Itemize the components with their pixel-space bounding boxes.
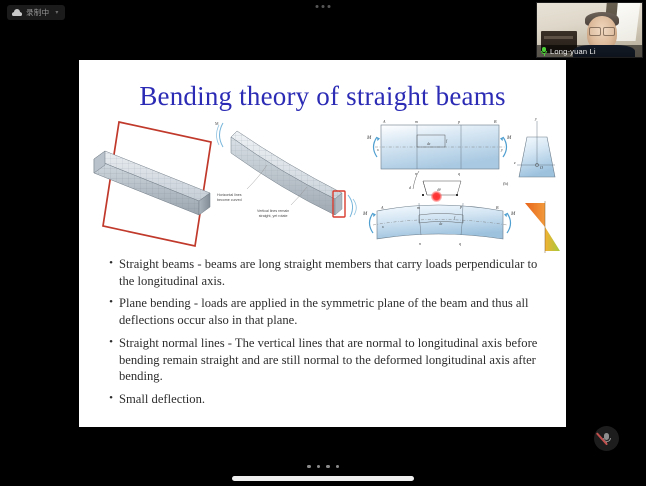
recording-status-label: 录制中 bbox=[26, 7, 49, 18]
dot bbox=[316, 5, 319, 8]
svg-text:m: m bbox=[417, 205, 420, 210]
bending-element-diagrams: A m p B n q x y dx f M M bbox=[357, 115, 566, 255]
page-dot[interactable] bbox=[307, 465, 311, 469]
svg-text:B: B bbox=[496, 205, 499, 210]
microphone-muted-icon bbox=[602, 432, 611, 445]
svg-text:dx: dx bbox=[439, 222, 443, 226]
slide-figures: M Horizontal linesbecome curved Vertical… bbox=[79, 115, 566, 255]
participant-name-label: Long-yuan Li bbox=[550, 47, 596, 56]
svg-text:M: M bbox=[506, 136, 512, 141]
deformed-curved-beam-figure: M Horizontal linesbecome curved Vertical… bbox=[211, 115, 359, 255]
presentation-slide[interactable]: Bending theory of straight beams bbox=[79, 60, 566, 427]
page-dot[interactable] bbox=[317, 465, 321, 469]
dot bbox=[328, 5, 331, 8]
page-dot[interactable] bbox=[336, 465, 340, 469]
bullet-text: Straight normal lines - The vertical lin… bbox=[119, 335, 548, 385]
svg-text:d: d bbox=[409, 185, 412, 190]
curved-beam-solid: M bbox=[211, 115, 359, 255]
svg-text:m: m bbox=[415, 119, 418, 124]
list-item: • Straight beams - beams are long straig… bbox=[103, 256, 548, 289]
annotation-horizontal-lines: Horizontal linesbecome curved bbox=[217, 193, 242, 203]
chevron-down-icon[interactable]: ▾ bbox=[55, 9, 58, 16]
dot bbox=[322, 5, 325, 8]
bullet-marker: • bbox=[103, 256, 119, 289]
bullet-text: Plane bending - loads are applied in the… bbox=[119, 295, 548, 328]
svg-text:B: B bbox=[494, 119, 497, 124]
svg-text:p: p bbox=[459, 204, 462, 209]
svg-text:M: M bbox=[362, 212, 368, 217]
svg-text:M: M bbox=[366, 136, 372, 141]
slide-title: Bending theory of straight beams bbox=[79, 81, 566, 112]
list-item: • Plane bending - loads are applied in t… bbox=[103, 295, 548, 328]
bullet-marker: • bbox=[103, 335, 119, 385]
beam-solid-mesh bbox=[92, 143, 214, 221]
home-indicator-bar[interactable] bbox=[232, 476, 414, 481]
list-item: • Small deflection. bbox=[103, 391, 548, 408]
bullet-marker: • bbox=[103, 295, 119, 328]
mute-microphone-button[interactable] bbox=[594, 426, 619, 451]
svg-text:A: A bbox=[382, 119, 386, 124]
slide-bullet-list: • Straight beams - beams are long straig… bbox=[103, 256, 548, 414]
cloud-icon bbox=[12, 9, 22, 16]
svg-text:M: M bbox=[215, 121, 219, 126]
participant-name-bar: Long-yuan Li bbox=[537, 45, 642, 57]
svg-text:z: z bbox=[513, 160, 516, 165]
svg-text:x: x bbox=[381, 224, 384, 229]
participant-video-tile[interactable]: Long-yuan Li bbox=[536, 2, 643, 58]
bullet-text: Straight beams - beams are long straight… bbox=[119, 256, 548, 289]
page-indicator-dots[interactable] bbox=[307, 465, 339, 469]
svg-text:q: q bbox=[458, 171, 460, 176]
bullet-text: Small deflection. bbox=[119, 391, 548, 408]
svg-text:y: y bbox=[500, 147, 503, 152]
page-dot[interactable] bbox=[326, 465, 330, 469]
recording-status-badge[interactable]: 录制中 ▾ bbox=[7, 5, 65, 20]
svg-text:n: n bbox=[419, 241, 421, 246]
svg-text:y: y bbox=[534, 116, 537, 121]
svg-text:p: p bbox=[457, 119, 460, 124]
bullet-marker: • bbox=[103, 391, 119, 408]
cursor-highlight-indicator bbox=[431, 191, 442, 202]
undeformed-3d-beam-figure bbox=[87, 115, 227, 255]
figure-caption-b: (b) bbox=[503, 181, 508, 186]
svg-text:M: M bbox=[510, 212, 516, 217]
svg-text:A: A bbox=[380, 205, 384, 210]
list-item: • Straight normal lines - The vertical l… bbox=[103, 335, 548, 385]
more-options-dots-icon[interactable] bbox=[316, 5, 331, 8]
beam-element-bending-figures: A m p B n q x y dx f M M bbox=[357, 115, 566, 255]
svg-text:dx: dx bbox=[427, 142, 431, 146]
microphone-on-icon bbox=[541, 47, 547, 56]
svg-text:x: x bbox=[376, 147, 379, 152]
annotation-vertical-lines: Vertical lines remainstraight, yet rotat… bbox=[257, 209, 289, 219]
svg-text:O: O bbox=[540, 165, 543, 170]
svg-text:q: q bbox=[459, 241, 461, 246]
